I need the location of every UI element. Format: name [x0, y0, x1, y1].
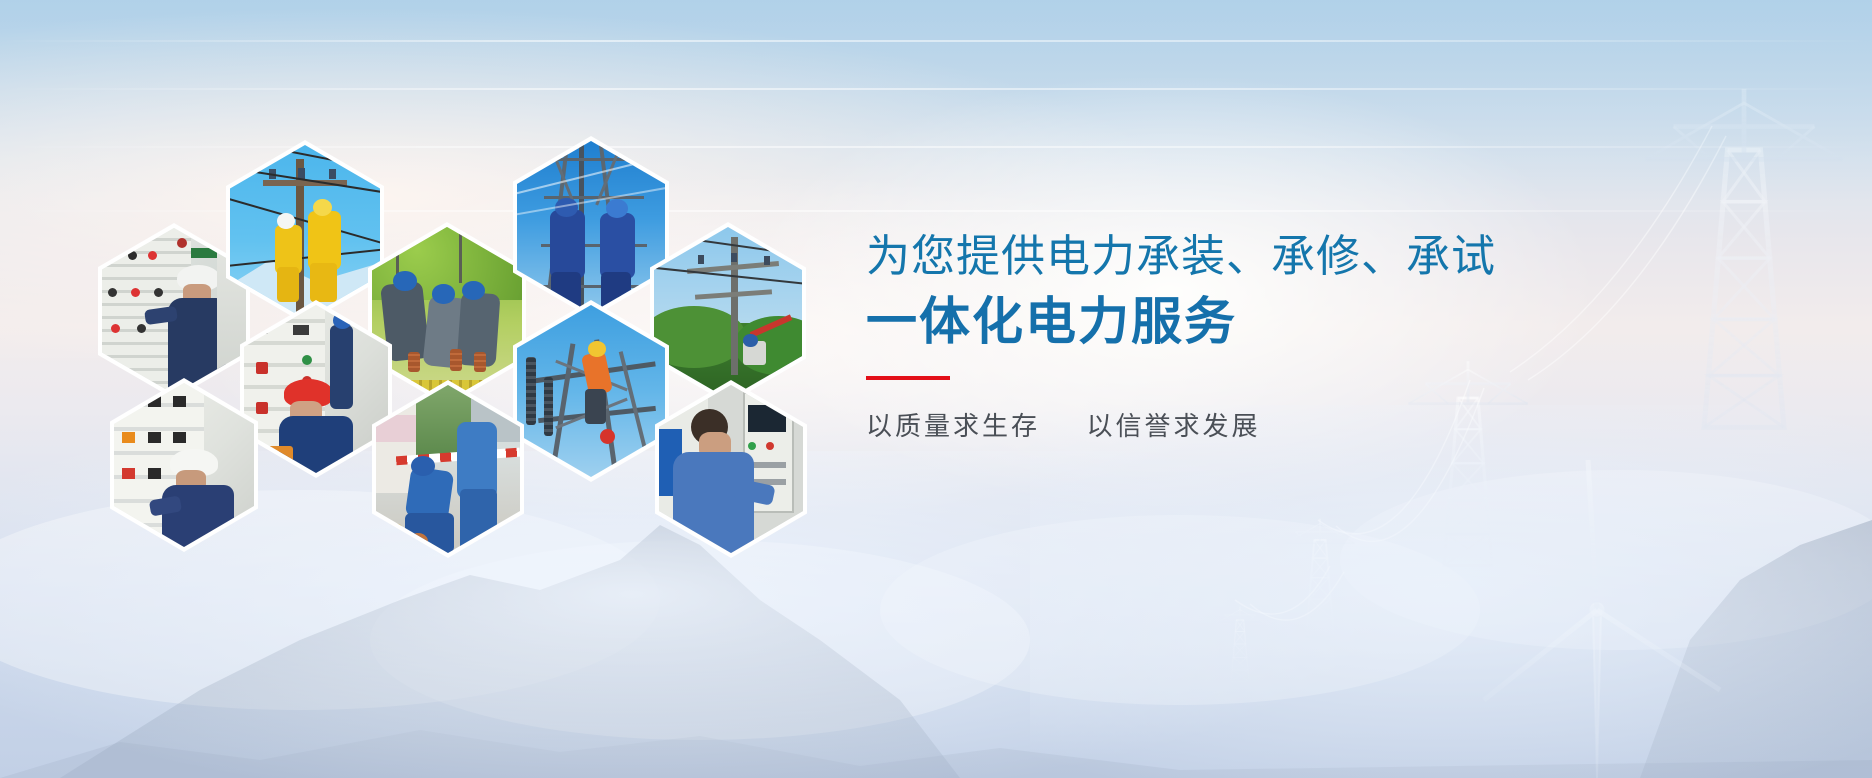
tagline-left-text: 以质量求生存: [866, 411, 1040, 441]
hexagon-photo-collage: [0, 0, 860, 620]
hex-photo-panel-board-red-helmet[interactable]: [240, 300, 392, 478]
tagline: 以质量求生存 以信誉求发展: [866, 406, 1566, 443]
headline-line-2: 一体化电力服务: [866, 288, 1566, 356]
hero-banner: 为您提供电力承装、承修、承试 一体化电力服务 以质量求生存 以信誉求发展: [0, 0, 1872, 778]
banner-copy: 为您提供电力承装、承修、承试 一体化电力服务 以质量求生存 以信誉求发展: [866, 226, 1566, 443]
transmission-tower-right: [1645, 89, 1842, 427]
hex-photo-crane-pole-maintenance[interactable]: [650, 222, 806, 404]
tagline-right-text: 以信誉求发展: [1086, 411, 1260, 441]
hex-photo-control-room-technician[interactable]: [655, 380, 807, 558]
hex-photo-meter-cabinet-white-helmet[interactable]: [110, 378, 258, 552]
hex-photo-transmission-tower-two-workers[interactable]: [513, 136, 669, 318]
hex-photo-ground-cable-work-blue-uniform[interactable]: [372, 380, 524, 558]
hex-photo-pole-linemen-yellow-suits[interactable]: [226, 140, 384, 324]
red-divider-rule: [866, 376, 950, 380]
headline-line-1: 为您提供电力承装、承修、承试: [866, 226, 1566, 288]
hex-photo-lattice-tower-climb-blue-sky[interactable]: [513, 300, 669, 482]
